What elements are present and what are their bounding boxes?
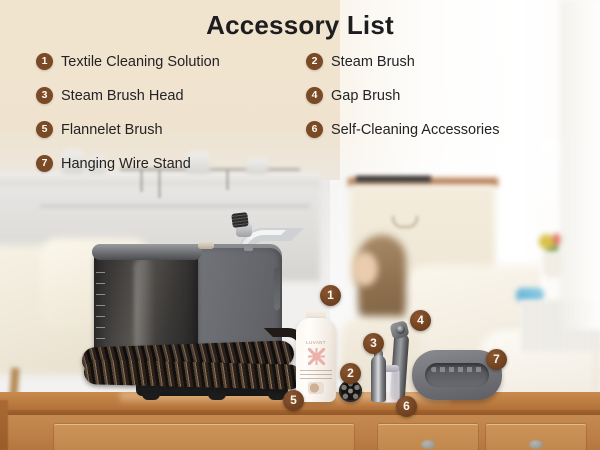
- list-badge-5: 5: [36, 121, 53, 138]
- list-row: 5 Flannelet Brush 6 Self-Cleaning Access…: [36, 121, 576, 155]
- machine-foot: [208, 392, 226, 400]
- tray-slots: [431, 367, 483, 372]
- list-badge-1: 1: [36, 53, 53, 70]
- list-row: 3 Steam Brush Head 4 Gap Brush: [36, 87, 576, 121]
- list-badge-4: 4: [306, 87, 323, 104]
- callout-badge-1: 1: [320, 285, 341, 306]
- bottle-label-graphic: [308, 382, 324, 394]
- sideboard-drawer: [54, 424, 354, 450]
- list-item: 5 Flannelet Brush: [36, 121, 306, 138]
- drawer-knob: [421, 440, 435, 449]
- background-person-face: [352, 252, 378, 286]
- product-infographic: LUVANT LUVANT Accessory List 1 Tex: [0, 0, 600, 450]
- list-badge-3: 3: [36, 87, 53, 104]
- list-item: 6 Self-Cleaning Accessories: [306, 121, 576, 138]
- list-item-label: Textile Cleaning Solution: [61, 54, 220, 70]
- gap-brush-ring: [396, 325, 405, 334]
- steam-brush-head-cone: [371, 355, 386, 402]
- list-item-label: Self-Cleaning Accessories: [331, 122, 499, 138]
- tank-latch[interactable]: [198, 242, 214, 249]
- machine-side-slot: [274, 268, 280, 310]
- machine-foot: [142, 392, 160, 400]
- list-item: 2 Steam Brush: [306, 53, 576, 70]
- machine-power-button[interactable]: [244, 246, 253, 251]
- list-item: 7 Hanging Wire Stand: [36, 155, 306, 172]
- list-item-label: Gap Brush: [331, 88, 400, 104]
- list-item-label: Flannelet Brush: [61, 122, 163, 138]
- list-item: 4 Gap Brush: [306, 87, 576, 104]
- callout-badge-2: 2: [340, 363, 361, 384]
- list-badge-7: 7: [36, 155, 53, 172]
- callout-badge-7: 7: [486, 349, 507, 370]
- list-item: 1 Textile Cleaning Solution: [36, 53, 306, 70]
- callout-badge-6: 6: [396, 396, 417, 417]
- bottle-label-text: [300, 370, 332, 379]
- list-badge-6: 6: [306, 121, 323, 138]
- callout-badge-5: 5: [283, 390, 304, 411]
- accessory-list: 1 Textile Cleaning Solution 2 Steam Brus…: [36, 53, 576, 189]
- list-row: 7 Hanging Wire Stand: [36, 155, 576, 189]
- list-badge-2: 2: [306, 53, 323, 70]
- list-item: 3 Steam Brush Head: [36, 87, 306, 104]
- background-cabinet-seam: [40, 205, 310, 207]
- steam-cleaner-machine: LUVANT: [88, 232, 306, 410]
- drawer-knob: [529, 440, 543, 449]
- coiled-hose: [84, 359, 303, 390]
- list-item-label: Hanging Wire Stand: [61, 156, 191, 172]
- wand-brush-nozzle-icon: [231, 212, 249, 228]
- tank-rim: [92, 244, 202, 260]
- list-row: 1 Textile Cleaning Solution 2 Steam Brus…: [36, 53, 576, 87]
- list-item-label: Steam Brush: [331, 54, 415, 70]
- list-item-label: Steam Brush Head: [61, 88, 184, 104]
- flower-icon: [308, 348, 325, 365]
- sideboard-leg: [0, 400, 8, 450]
- page-title: Accessory List: [0, 10, 600, 41]
- callout-badge-3: 3: [363, 333, 384, 354]
- callout-badge-4: 4: [410, 310, 431, 331]
- bottle-brand-text: LUVANT: [296, 340, 336, 345]
